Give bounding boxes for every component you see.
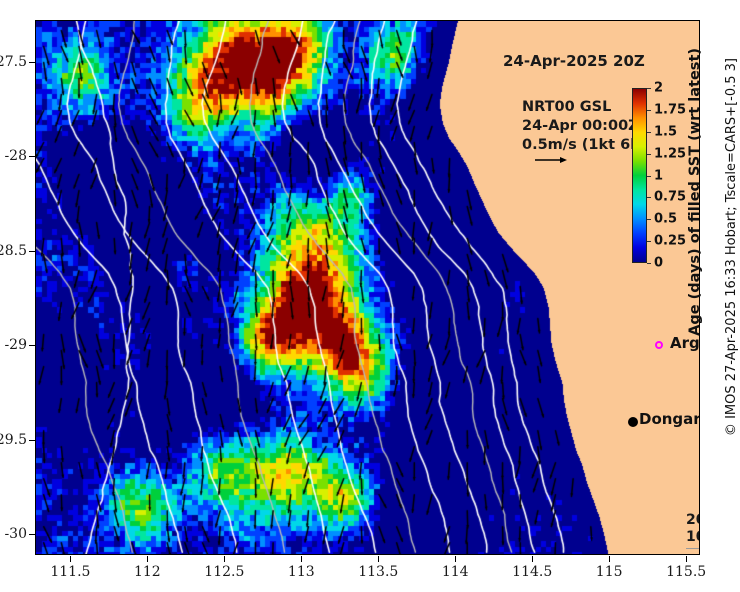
dongara-marker-icon[interactable] [628,417,638,427]
depth-legend-1000m: 1000m [686,529,700,546]
colorbar-tick [647,263,651,264]
x-tick [301,556,302,562]
x-tick-label: 115.5 [666,564,706,580]
y-tick [29,440,35,441]
colorbar-tick-label: 1 [654,168,663,183]
map-frame[interactable]: 24-Apr-2025 20Z NRT00 GSL 24-Apr 00:00Z … [35,20,700,555]
x-tick [455,556,456,562]
x-tick [147,556,148,562]
colorbar-tick [647,154,651,155]
colorbar-tick-label: 0 [654,256,663,271]
x-tick-label: 115 [596,564,623,580]
vector-legend-line-1: NRT00 GSL [522,98,647,117]
argo-marker-icon[interactable] [655,341,663,349]
vector-legend-text: NRT00 GSL 24-Apr 00:00Z 0.5m/s (1kt 6h) [522,98,647,155]
colorbar-tick-label: 2 [654,81,663,96]
colorbar-tick [647,219,651,220]
x-tick [378,556,379,562]
x-tick [70,556,71,562]
argo-label: Argo [670,334,700,352]
x-tick-label: 113 [288,564,315,580]
y-tick-label: -28.5 [0,243,27,259]
x-tick-label: 111.5 [50,564,90,580]
vector-legend-line-3: 0.5m/s (1kt 6h) [522,136,647,155]
colorbar-tick [647,110,651,111]
y-tick [29,534,35,535]
x-tick-label: 113.5 [358,564,398,580]
colorbar-tick [647,132,651,133]
depth-legend: 200m 1000m [686,512,700,546]
y-tick-label: -29 [4,337,27,353]
colorbar-tick-label: 1.5 [654,124,677,139]
colorbar-tick [647,88,651,89]
y-tick-label: -29.5 [0,432,27,448]
colorbar-tick-label: 0.25 [654,234,686,249]
colorbar-gradient [632,88,647,263]
colorbar-tick-label: 1.75 [654,102,686,117]
colorbar-tick [647,241,651,242]
x-tick-label: 114.5 [512,564,552,580]
x-tick [224,556,225,562]
colorbar-title: Age (days) of filled SST (wrt latest) [687,48,703,336]
colorbar-tick-label: 0.75 [654,190,686,205]
vector-legend-line-2: 24-Apr 00:00Z [522,117,647,136]
x-tick [532,556,533,562]
colorbar-tick-label: 1.25 [654,146,686,161]
x-tick [686,556,687,562]
copyright-text: © IMOS 27-Apr-2025 16:33 Hobart; Tscale=… [724,58,739,436]
vector-scale-arrow-icon [534,154,568,166]
y-tick [29,251,35,252]
depth-legend-rule [686,548,700,549]
x-tick [609,556,610,562]
y-tick-label: -28 [4,148,27,164]
dongara-label: Dongara [639,410,700,428]
x-tick-label: 112.5 [204,564,244,580]
colorbar-tick [647,197,651,198]
colorbar-tick-label: 0.5 [654,212,677,227]
depth-legend-200m: 200m [686,512,700,529]
date-stamp: 24-Apr-2025 20Z [503,52,645,70]
y-tick [29,345,35,346]
colorbar: 21.751.51.2510.750.50.250 [632,88,647,263]
y-tick-label: -30 [4,526,27,542]
colorbar-tick [647,176,651,177]
x-tick-label: 112 [134,564,161,580]
y-tick [29,156,35,157]
y-tick-label: -27.5 [0,54,27,70]
y-tick [29,62,35,63]
x-tick-label: 114 [442,564,469,580]
